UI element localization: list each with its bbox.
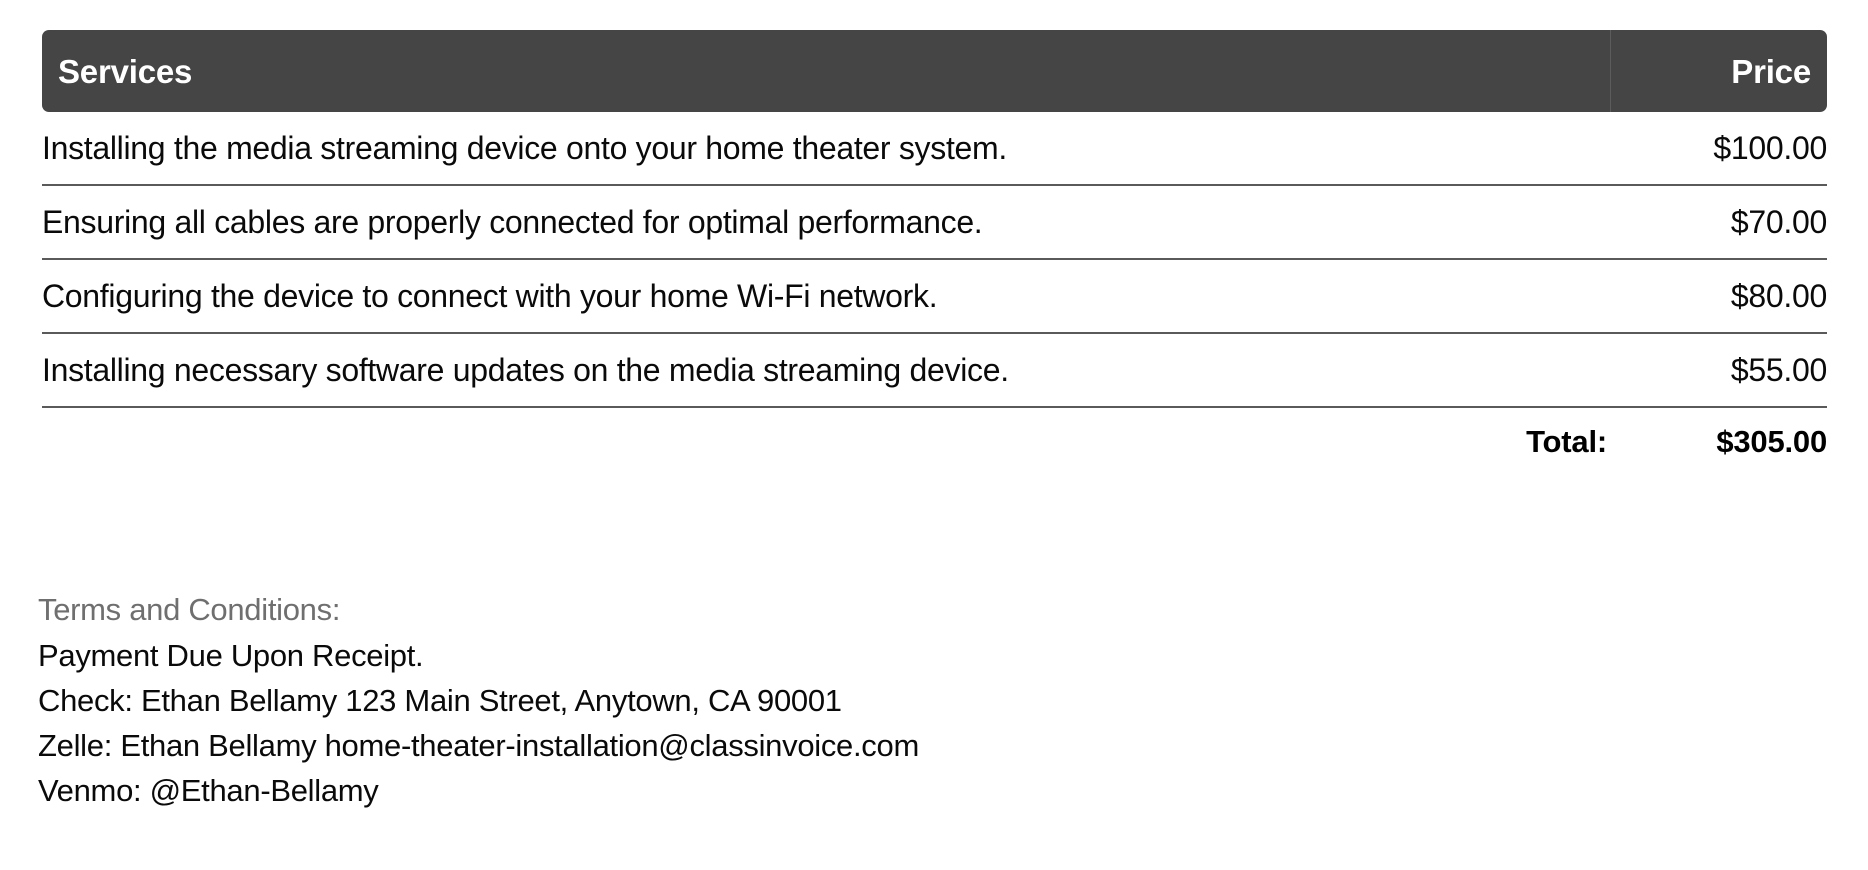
service-price: $80.00 [1612, 278, 1827, 315]
total-label: Total: [1526, 424, 1699, 460]
table-row: Installing necessary software updates on… [42, 334, 1827, 408]
terms-and-conditions-section: Terms and Conditions: Payment Due Upon R… [38, 586, 1828, 813]
service-description: Ensuring all cables are properly connect… [42, 204, 1612, 241]
service-price: $55.00 [1612, 352, 1827, 389]
service-price: $70.00 [1612, 204, 1827, 241]
invoice-page: Services Price Installing the media stre… [0, 0, 1868, 870]
service-description: Configuring the device to connect with y… [42, 278, 1612, 315]
column-header-services: Services [42, 55, 1610, 88]
terms-line-check: Check: Ethan Bellamy 123 Main Street, An… [38, 678, 1828, 723]
table-row: Ensuring all cables are properly connect… [42, 186, 1827, 260]
service-price: $100.00 [1612, 130, 1827, 167]
service-description: Installing the media streaming device on… [42, 130, 1612, 167]
service-description: Installing necessary software updates on… [42, 352, 1612, 389]
terms-line-payment: Payment Due Upon Receipt. [38, 633, 1828, 678]
terms-heading: Terms and Conditions: [38, 586, 1828, 633]
terms-line-venmo: Venmo: @Ethan-Bellamy [38, 768, 1828, 813]
terms-line-zelle: Zelle: Ethan Bellamy home-theater-instal… [38, 723, 1828, 768]
total-amount: $305.00 [1699, 424, 1827, 460]
services-price-table: Services Price Installing the media stre… [42, 30, 1827, 476]
table-header-row: Services Price [42, 30, 1827, 112]
total-row: Total: $305.00 [42, 408, 1827, 476]
table-row: Configuring the device to connect with y… [42, 260, 1827, 334]
column-header-price: Price [1611, 55, 1827, 88]
table-row: Installing the media streaming device on… [42, 112, 1827, 186]
